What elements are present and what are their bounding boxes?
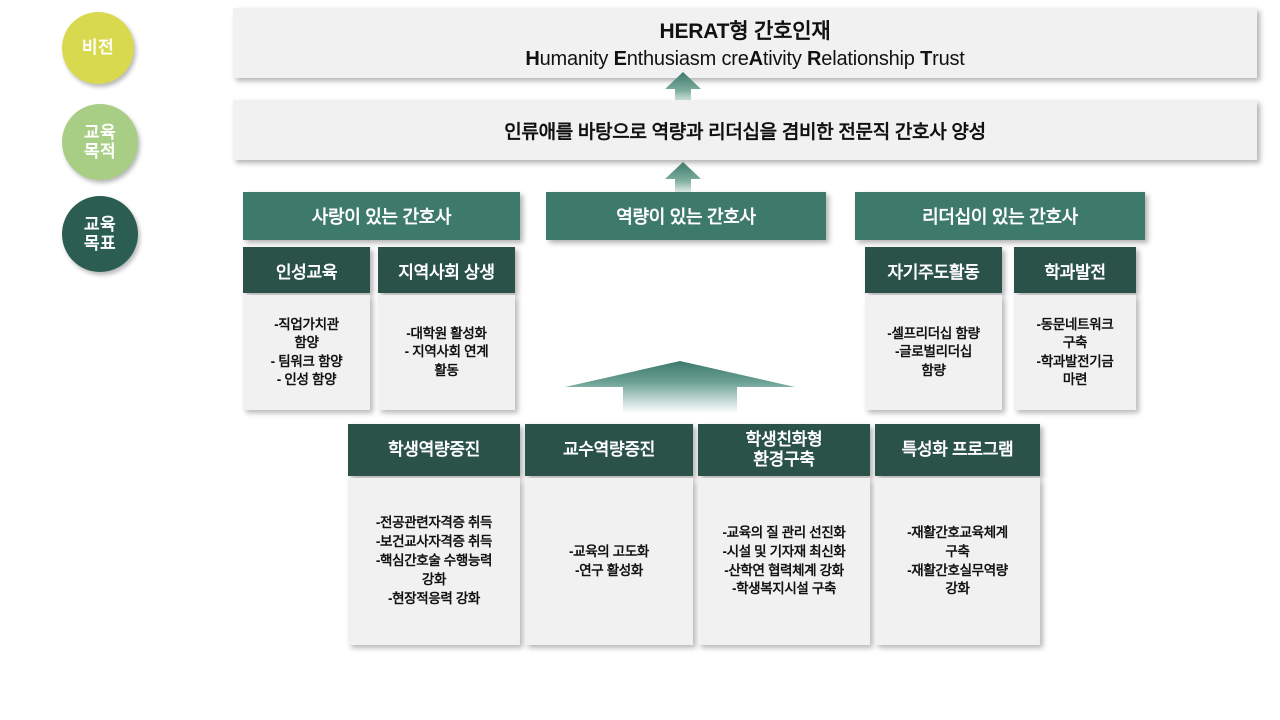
bottom-card-title-special: 특성화 프로그램 xyxy=(875,424,1040,476)
bottom-card-title-environ: 학생친화형 환경구축 xyxy=(698,424,870,476)
purpose-banner: 인류애를 바탕으로 역량과 리더십을 겸비한 전문직 간호사 양성 xyxy=(233,100,1257,160)
stage-circle-goal: 교육 목표 xyxy=(62,196,138,272)
stage-circle-purpose-label: 교육 목적 xyxy=(84,123,116,161)
stage-circle-vision-label: 비전 xyxy=(82,38,114,57)
bottom-card-title-student: 학생역량증진 xyxy=(348,424,520,476)
diagram-canvas: 비전 교육 목적 교육 목표 HERAT형 간호인재 Humanity Enth… xyxy=(0,0,1280,720)
stage-circle-vision: 비전 xyxy=(62,12,134,84)
subcard-body-deptdev: -동문네트워크 구축 -학과발전기금 마련 xyxy=(1014,295,1136,410)
bottom-card-body-special: -재활간호교육체계 구축 -재활간호실무역량 강화 xyxy=(875,478,1040,645)
vision-banner-acronym: Humanity Enthusiasm creAtivity Relations… xyxy=(525,48,964,71)
purpose-banner-text: 인류애를 바탕으로 역량과 리더십을 겸비한 전문직 간호사 양성 xyxy=(504,117,986,144)
vision-banner-title: HERAT형 간호인재 xyxy=(659,15,830,45)
subcard-title-deptdev: 학과발전 xyxy=(1014,247,1136,293)
arrow-to-purpose-icon xyxy=(665,162,701,196)
subcard-body-character: -직업가치관 함양 - 팀워크 함양 - 인성 함양 xyxy=(243,295,370,410)
group-header-leadership: 리더십이 있는 간호사 xyxy=(855,192,1145,240)
arrow-wide-up-icon xyxy=(565,361,795,413)
stage-circle-goal-label: 교육 목표 xyxy=(84,215,116,253)
bottom-card-body-environ: -교육의 질 관리 선진화 -시설 및 기자재 최신화 -산학연 협력체계 강화… xyxy=(698,478,870,645)
vision-banner: HERAT형 간호인재 Humanity Enthusiasm creAtivi… xyxy=(233,8,1257,78)
bottom-card-body-student: -전공관련자격증 취득 -보건교사자격증 취득 -핵심간호술 수행능력 강화 -… xyxy=(348,478,520,645)
subcard-title-community: 지역사회 상생 xyxy=(378,247,515,293)
stage-circle-purpose: 교육 목적 xyxy=(62,104,138,180)
bottom-card-title-faculty: 교수역량증진 xyxy=(525,424,693,476)
group-header-love: 사랑이 있는 간호사 xyxy=(243,192,520,240)
subcard-body-community: -대학원 활성화 - 지역사회 연계 활동 xyxy=(378,295,515,410)
bottom-card-body-faculty: -교육의 고도화 -연구 활성화 xyxy=(525,478,693,645)
group-header-competency: 역량이 있는 간호사 xyxy=(546,192,826,240)
subcard-title-character: 인성교육 xyxy=(243,247,370,293)
subcard-title-selfdirect: 자기주도활동 xyxy=(865,247,1002,293)
subcard-body-selfdirect: -셀프리더십 함량 -글로벌리더십 함량 xyxy=(865,295,1002,410)
